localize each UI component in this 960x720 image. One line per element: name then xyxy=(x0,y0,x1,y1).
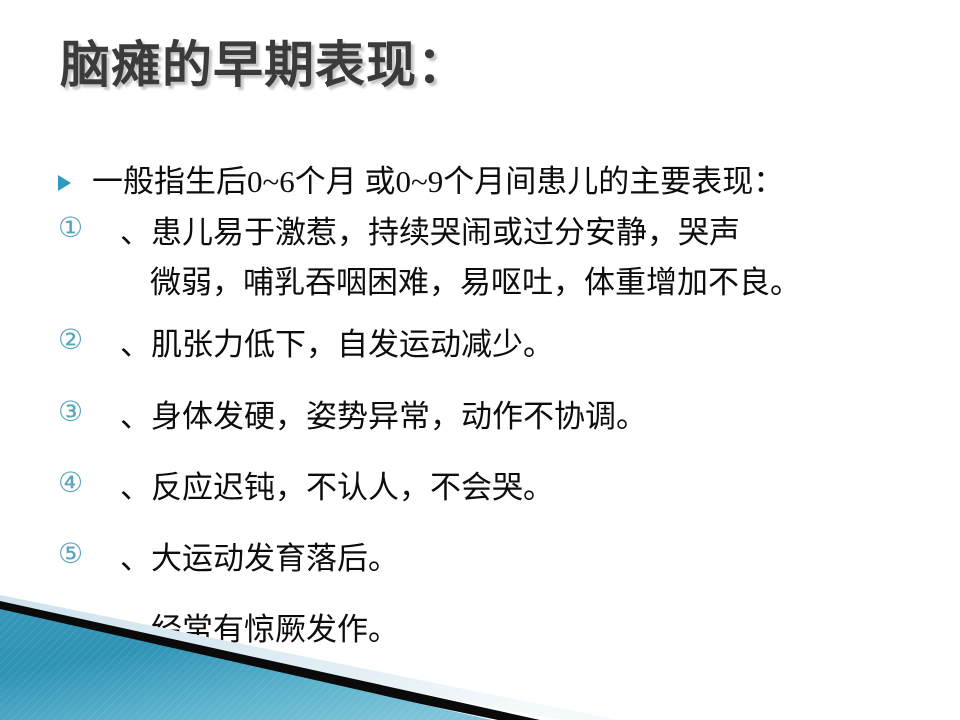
list-item-marker: ③ xyxy=(58,392,120,429)
page-title: 脑瘫的早期表现： xyxy=(60,38,920,118)
list-item: ④ 、反应迟钝，不认人，不会哭。 xyxy=(58,463,938,513)
slide-canvas: 脑瘫的早期表现： 一般指生后0~6个月 或0~9个月间患儿的主要表现： ① 、患… xyxy=(0,0,960,720)
body-content: 一般指生后0~6个月 或0~9个月间患儿的主要表现： ① 、患儿易于激惹，持续哭… xyxy=(58,166,938,656)
list-item-text: 、反应迟钝，不认人，不会哭。 xyxy=(120,463,938,513)
list-item: ⑤ 、大运动发育落后。 xyxy=(58,534,938,584)
list-item-text: 、患儿易于激惹，持续哭闹或过分安静，哭声微弱，哺乳吞咽困难，易呕吐，体重增加不良… xyxy=(120,208,938,308)
triangle-right-icon xyxy=(58,166,92,191)
slide-title-text: 脑瘫的早期表现： xyxy=(60,38,920,93)
list-item: ① 、患儿易于激惹，持续哭闹或过分安静，哭声微弱，哺乳吞咽困难，易呕吐，体重增加… xyxy=(58,208,938,308)
intro-line-text: 一般指生后0~6个月 或0~9个月间患儿的主要表现： xyxy=(92,166,784,197)
list-item-text: 、肌张力低下，自发运动减少。 xyxy=(120,320,938,370)
list-item-text: 、身体发硬，姿势异常，动作不协调。 xyxy=(120,392,938,442)
list-item-line1: 、患儿易于激惹，持续哭闹或过分安静，哭声 xyxy=(120,215,740,250)
list-item-line2: 微弱，哺乳吞咽困难，易呕吐，体重增加不良。 xyxy=(120,258,938,308)
list-item: ③ 、身体发硬，姿势异常，动作不协调。 xyxy=(58,392,938,442)
list-item-marker: ⑤ xyxy=(58,534,120,571)
list-item: ② 、肌张力低下，自发运动减少。 xyxy=(58,320,938,370)
list-item-text: 、大运动发育落后。 xyxy=(120,534,938,584)
list-item: ⑥ 、经常有惊厥发作。 xyxy=(58,605,938,655)
list-item-marker: ④ xyxy=(58,463,120,500)
intro-line: 一般指生后0~6个月 或0~9个月间患儿的主要表现： xyxy=(58,166,938,197)
list-item-marker: ⑥ xyxy=(58,605,120,642)
list-item-marker: ① xyxy=(58,208,120,245)
list-item-text: 、经常有惊厥发作。 xyxy=(120,605,938,655)
list-item-marker: ② xyxy=(58,320,120,357)
